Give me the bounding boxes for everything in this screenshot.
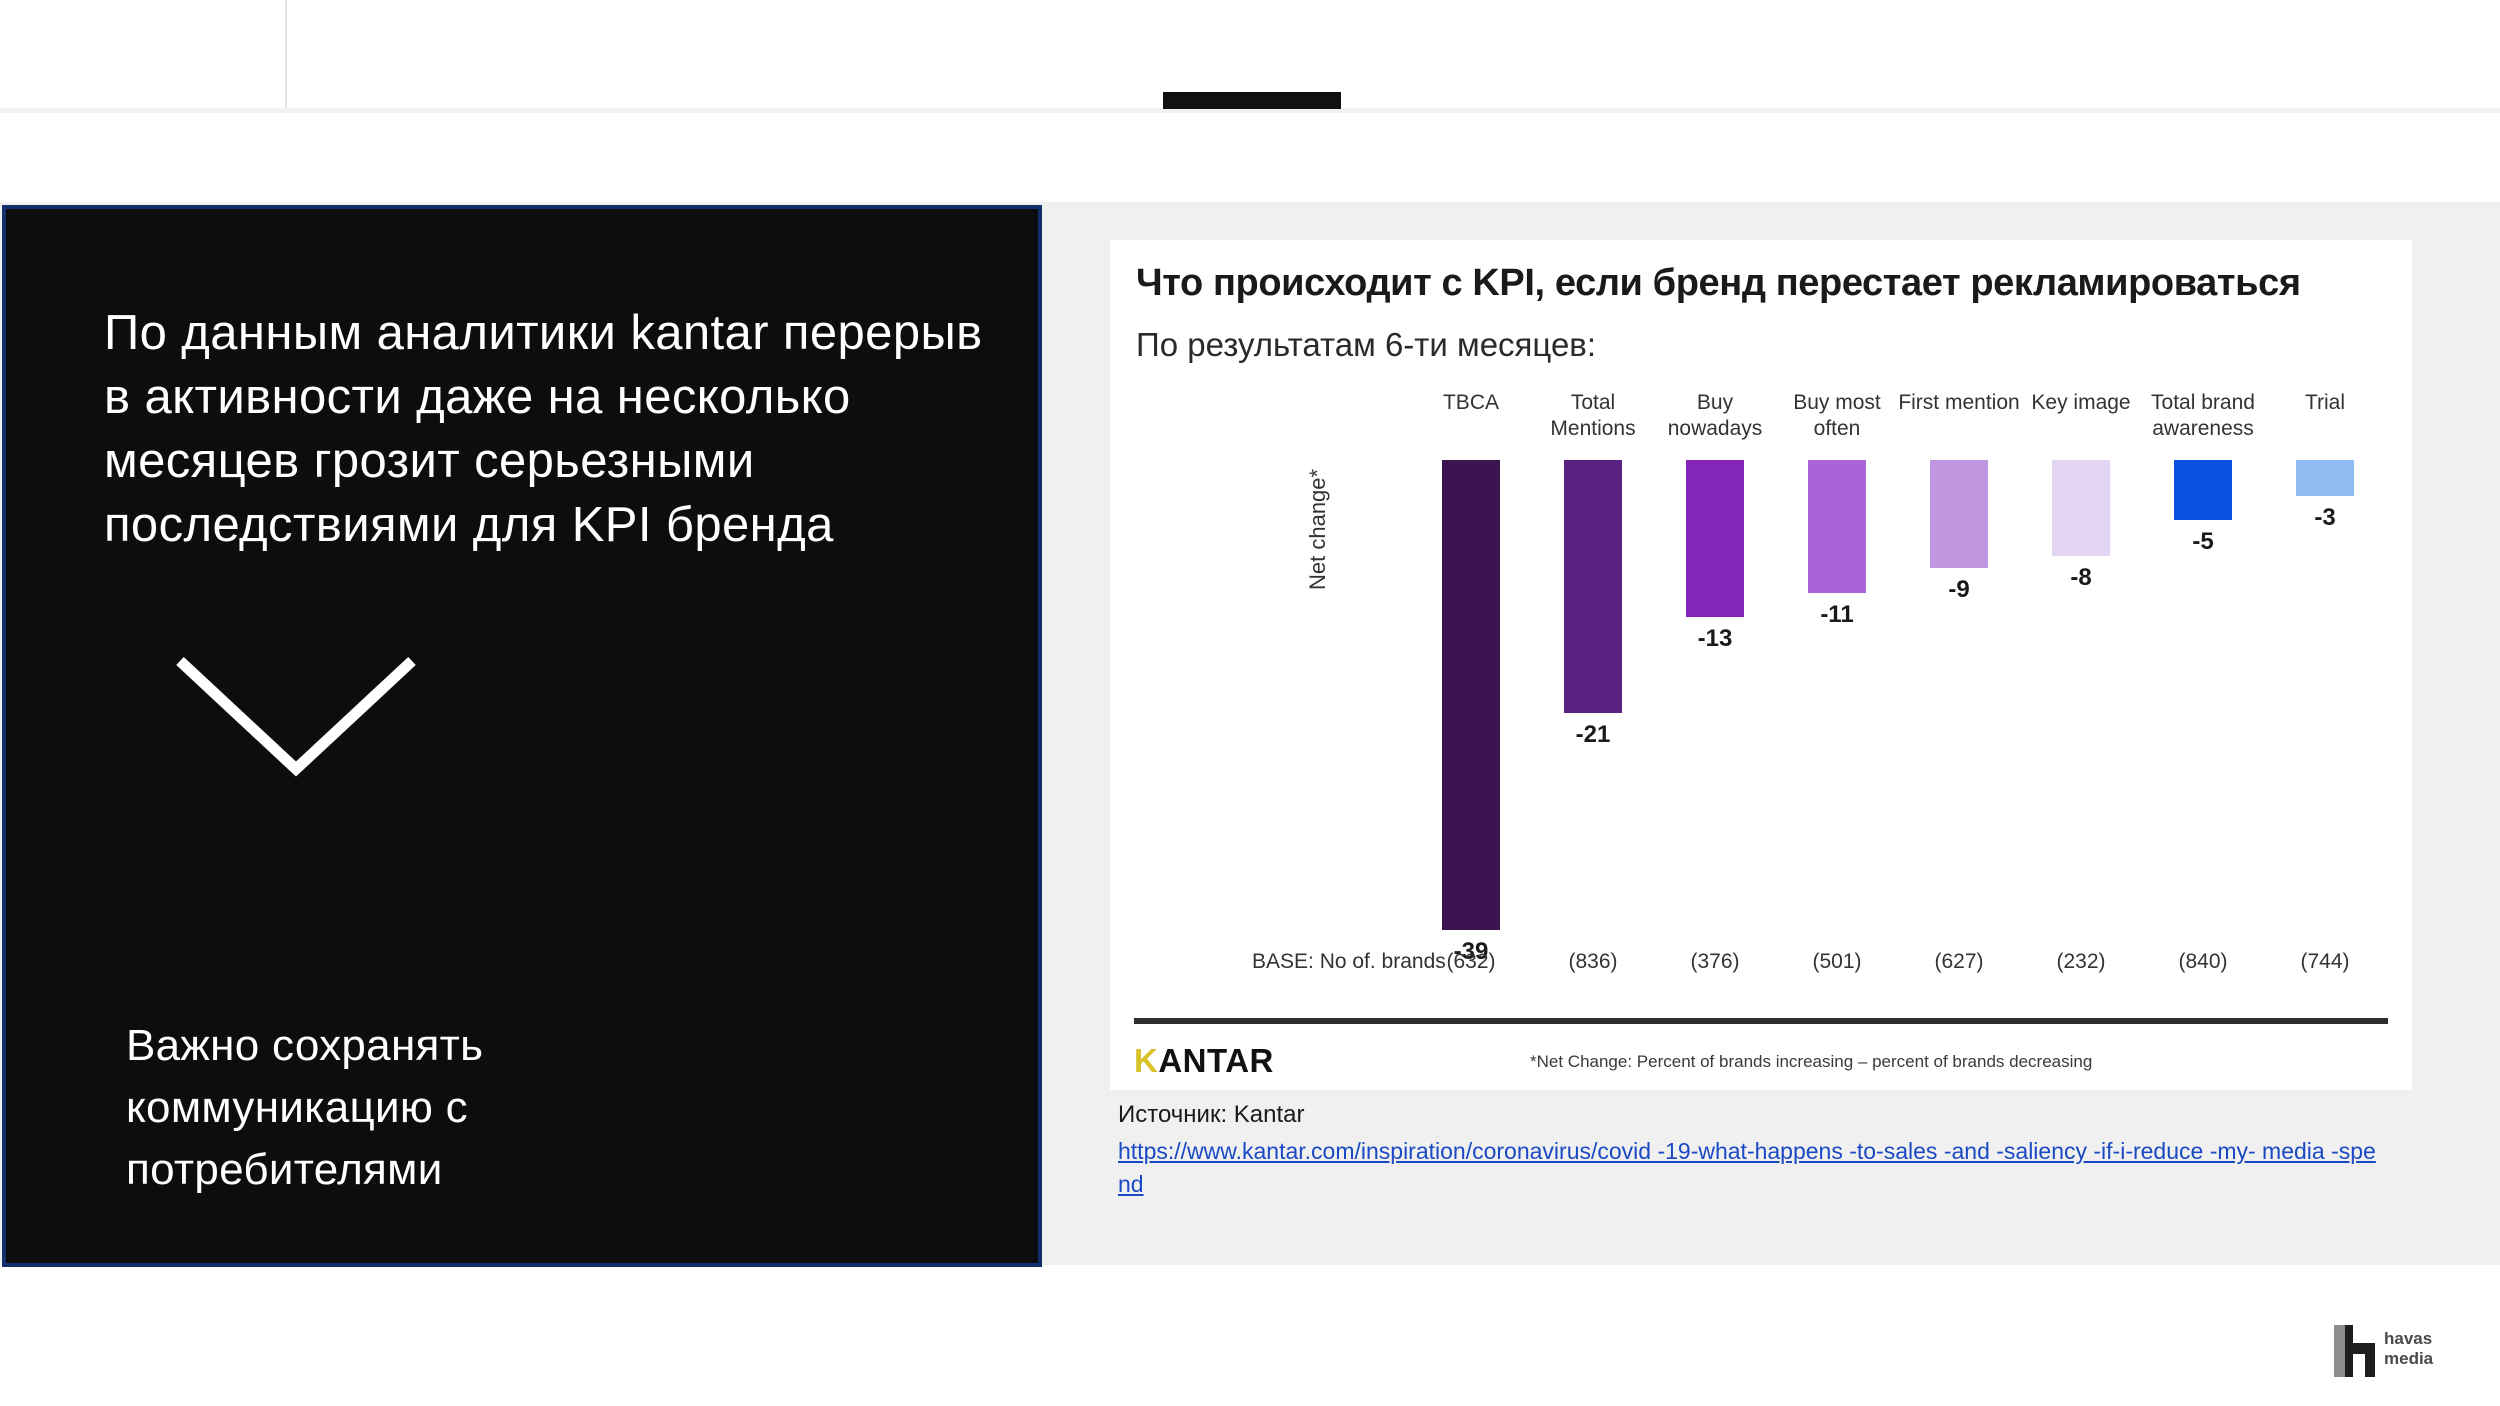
source-label: Источник: Kantar (1118, 1098, 2418, 1131)
bar-column: Trial-3 (2264, 390, 2386, 950)
havas-media-logo: havas media (2334, 1323, 2466, 1381)
source-link[interactable]: https://www.kantar.com/inspiration/coron… (1118, 1135, 2376, 1201)
bar-category-label: Trial (2264, 390, 2386, 416)
bar-column: TBCA-39 (1410, 390, 1532, 950)
base-value: (501) (1776, 950, 1898, 974)
bar-value-label: -8 (2070, 564, 2091, 592)
base-value: (232) (2020, 950, 2142, 974)
bar-category-label: Key image (2020, 390, 2142, 416)
app-header (0, 0, 2500, 112)
bar-rect[interactable] (2052, 460, 2110, 556)
chart-title: Что происходит с KPI, если бренд переста… (1136, 262, 2396, 305)
base-value: (627) (1898, 950, 2020, 974)
bar-shaft-zone: -3 (2264, 460, 2386, 950)
bar-shaft-zone: -13 (1654, 460, 1776, 950)
kantar-logo: KANTAR (1134, 1042, 1274, 1080)
base-value: (836) (1532, 950, 1654, 974)
chevron-down-icon (176, 657, 416, 777)
dark-text-panel[interactable]: По данным аналитики kantar перерыв в акт… (2, 205, 1042, 1267)
panel-headline: По данным аналитики kantar перерыв в акт… (104, 301, 984, 557)
bar-shaft-zone: -21 (1532, 460, 1654, 950)
base-value: (632) (1410, 950, 1532, 974)
kantar-logo-k: K (1134, 1042, 1158, 1079)
bar-rect[interactable] (1808, 460, 1866, 593)
bar-column: Total brand awareness-5 (2142, 390, 2264, 950)
panel-footnote: Важно сохранять коммуникацию с потребите… (126, 1015, 746, 1201)
bar-shaft-zone: -8 (2020, 460, 2142, 950)
source-block: Источник: Kantar https://www.kantar.com/… (1118, 1098, 2418, 1201)
chart-card: Что происходит с KPI, если бренд переста… (1110, 240, 2412, 1090)
bar-column: Buy most often-11 (1776, 390, 1898, 950)
bar-shaft-zone: -5 (2142, 460, 2264, 950)
bar-rect[interactable] (1930, 460, 1988, 568)
bar-value-label: -13 (1698, 625, 1733, 653)
bar-category-label: Buy nowadays (1654, 390, 1776, 442)
bar-value-label: -5 (2192, 528, 2213, 556)
bar-column: Total Mentions-21 (1532, 390, 1654, 950)
havas-h-mark (2334, 1325, 2376, 1377)
bar-category-label: Buy most often (1776, 390, 1898, 442)
bar-rect[interactable] (1686, 460, 1744, 617)
havas-wordmark-line1: havas (2384, 1329, 2433, 1349)
bar-rect[interactable] (1442, 460, 1500, 930)
base-value: (376) (1654, 950, 1776, 974)
net-change-footnote: *Net Change: Percent of brands increasin… (1530, 1052, 2092, 1072)
bar-rect[interactable] (1564, 460, 1622, 713)
havas-wordmark: havas media (2384, 1329, 2433, 1369)
bar-value-label: -3 (2314, 504, 2335, 532)
bar-value-label: -9 (1948, 576, 1969, 604)
bar-shaft-zone: -9 (1898, 460, 2020, 950)
bar-category-label: Total Mentions (1532, 390, 1654, 442)
bar-category-label: First mention (1898, 390, 2020, 416)
bar-shaft-zone: -11 (1776, 460, 1898, 950)
bar-column: First mention-9 (1898, 390, 2020, 950)
base-value: (840) (2142, 950, 2264, 974)
bar-column: Buy nowadays-13 (1654, 390, 1776, 950)
bar-shaft-zone: -39 (1410, 460, 1532, 950)
base-value: (744) (2264, 950, 2386, 974)
bar-category-label: TBCA (1410, 390, 1532, 416)
bar-column: Key image-8 (2020, 390, 2142, 950)
chart-plot-area: Net change* TBCA-39Total Mentions-21Buy … (1110, 390, 2412, 950)
bar-value-label: -11 (1820, 601, 1853, 629)
kantar-logo-rest: ANTAR (1158, 1042, 1274, 1079)
bar-rect[interactable] (2174, 460, 2232, 520)
active-slide-tab-indicator[interactable] (1163, 92, 1341, 109)
chart-subtitle: По результатам 6-ти месяцев: (1136, 326, 1596, 364)
y-axis-label: Net change* (1305, 469, 1331, 590)
header-divider (285, 0, 287, 110)
chart-base-row: BASE: No of. brands (632)(836)(376)(501)… (1110, 950, 2412, 990)
bar-rect[interactable] (2296, 460, 2354, 496)
bar-category-label: Total brand awareness (2142, 390, 2264, 442)
havas-wordmark-line2: media (2384, 1349, 2433, 1369)
bar-value-label: -21 (1576, 721, 1611, 749)
card-divider-rule (1134, 1018, 2388, 1024)
